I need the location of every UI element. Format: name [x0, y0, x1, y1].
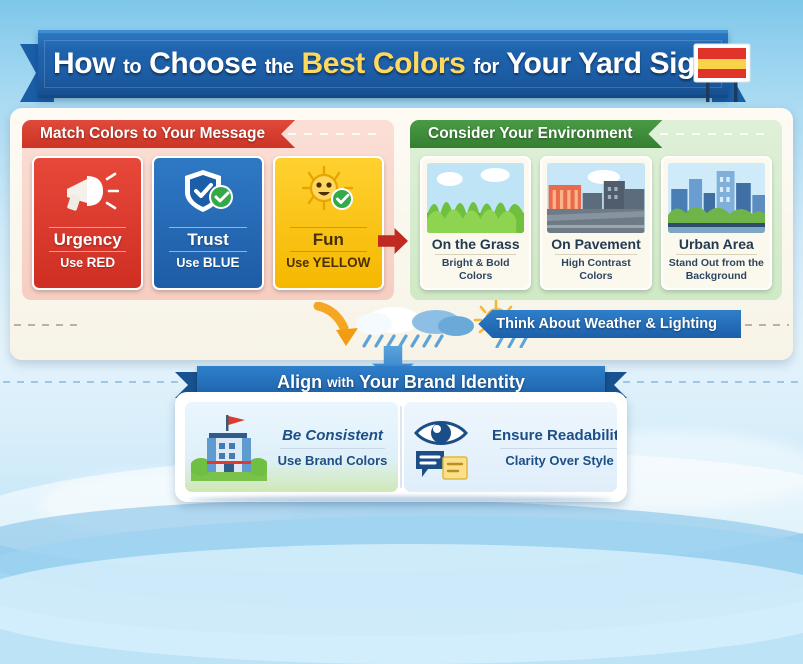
card-urban-area[interactable]: Urban Area Stand Out from the Background	[661, 156, 772, 290]
card-subtitle: Stand Out from the Background	[667, 257, 766, 282]
card-divider	[169, 227, 246, 228]
pavement-illustration	[547, 163, 644, 233]
shield-art	[154, 158, 261, 226]
card-divider	[435, 254, 516, 255]
dashed-line	[660, 133, 770, 135]
title-word-the: the	[265, 56, 294, 78]
card-subtitle: Use RED	[60, 255, 115, 275]
card-divider	[49, 251, 126, 252]
smiley-sun-art	[275, 158, 382, 226]
brand-heading-with: with	[327, 375, 354, 390]
card-title: Be Consistent	[282, 427, 383, 444]
title-word-how: How	[53, 47, 115, 80]
card-divider	[555, 254, 636, 255]
panel-heading-environment: Consider Your Environment	[410, 120, 662, 148]
card-title: Urban Area	[679, 236, 754, 252]
dashed-line	[3, 381, 183, 383]
card-text: Be Consistent Use Brand Colors	[273, 427, 392, 468]
title-banner: How to Choose the Best Colors for Your Y…	[38, 30, 728, 98]
environment-card-list: On the Grass Bright & Bold Colors	[420, 156, 772, 290]
card-title: On the Grass	[432, 236, 520, 252]
urban-illustration	[668, 163, 765, 233]
eye-speech-bubble-icon	[410, 409, 486, 485]
card-text: Urban Area Stand Out from the Background	[663, 233, 770, 288]
card-on-the-grass[interactable]: On the Grass Bright & Bold Colors	[420, 156, 531, 290]
card-title: Fun	[313, 231, 344, 250]
panel-heading-match-colors: Match Colors to Your Message	[22, 120, 295, 148]
card-text: Ensure Readability Clarity Over Style	[492, 427, 617, 468]
title-ribbon: How to Choose the Best Colors for Your Y…	[20, 30, 746, 92]
brand-heading-rest: Your Brand Identity	[359, 372, 525, 393]
match-colors-card-list: Urgency Use RED	[32, 156, 384, 290]
dashed-line	[623, 381, 803, 383]
dashed-line	[272, 133, 382, 135]
card-on-pavement[interactable]: On Pavement High Contrast Colors	[540, 156, 651, 290]
card-subtitle: Use Brand Colors	[278, 453, 388, 468]
card-divider	[290, 251, 367, 252]
pavement-street-image	[547, 163, 644, 233]
brand-heading-align: Align	[277, 372, 322, 393]
weather-banner: Think About Weather & Lighting	[478, 310, 741, 338]
title-word-to: to	[123, 56, 141, 78]
card-subtitle: High Contrast Colors	[546, 257, 645, 282]
grass-field-image	[427, 163, 524, 233]
card-divider	[169, 251, 246, 252]
wave-shape	[0, 544, 803, 664]
card-divider	[290, 227, 367, 228]
card-shadow	[189, 496, 613, 504]
card-subtitle: Use BLUE	[176, 255, 239, 275]
card-title: Trust	[187, 231, 229, 250]
card-divider	[500, 448, 617, 449]
card-divider	[280, 448, 385, 449]
title-word-choose: Choose	[149, 47, 257, 80]
card-title: On Pavement	[551, 236, 640, 252]
megaphone-icon	[57, 167, 119, 217]
title-word-for: for	[473, 56, 498, 78]
card-text: On Pavement High Contrast Colors	[542, 233, 649, 288]
smiley-sun-icon	[298, 165, 358, 219]
office-building-flag-icon	[191, 409, 267, 485]
card-divider	[676, 254, 757, 255]
urban-skyline-image	[668, 163, 765, 233]
infographic-canvas: How to Choose the Best Colors for Your Y…	[0, 0, 803, 600]
card-separator	[400, 406, 402, 488]
page-title: How to Choose the Best Colors for Your Y…	[39, 47, 727, 81]
panel-environment: Consider Your Environment	[410, 120, 782, 300]
yard-sign-icon	[684, 36, 758, 110]
card-subtitle: Bright & Bold Colors	[426, 257, 525, 282]
title-word-your: Your	[506, 47, 571, 80]
rain-cloud-icon	[350, 304, 478, 348]
megaphone-art	[34, 158, 141, 226]
title-highlight: Best Colors	[301, 47, 465, 80]
brand-identity-card: Be Consistent Use Brand Colors	[175, 392, 627, 502]
card-ensure-readability[interactable]: Ensure Readability Clarity Over Style	[404, 402, 617, 492]
card-subtitle: Clarity Over Style	[505, 453, 613, 468]
card-fun[interactable]: Fun Use YELLOW	[273, 156, 384, 290]
card-trust[interactable]: Trust Use BLUE	[152, 156, 263, 290]
grass-illustration	[427, 163, 524, 233]
weather-strip: Think About Weather & Lighting	[10, 300, 793, 348]
card-text: On the Grass Bright & Bold Colors	[422, 233, 529, 288]
card-urgency[interactable]: Urgency Use RED	[32, 156, 143, 290]
card-subtitle: Use YELLOW	[286, 255, 370, 275]
panel-match-colors: Match Colors to Your Message	[22, 120, 394, 300]
card-title: Urgency	[54, 231, 122, 250]
card-divider	[49, 227, 126, 228]
dashed-line	[745, 324, 789, 326]
card-title: Ensure Readability	[492, 427, 617, 444]
card-be-consistent[interactable]: Be Consistent Use Brand Colors	[185, 402, 398, 492]
dashed-line	[14, 324, 84, 326]
shield-check-icon	[179, 166, 237, 218]
